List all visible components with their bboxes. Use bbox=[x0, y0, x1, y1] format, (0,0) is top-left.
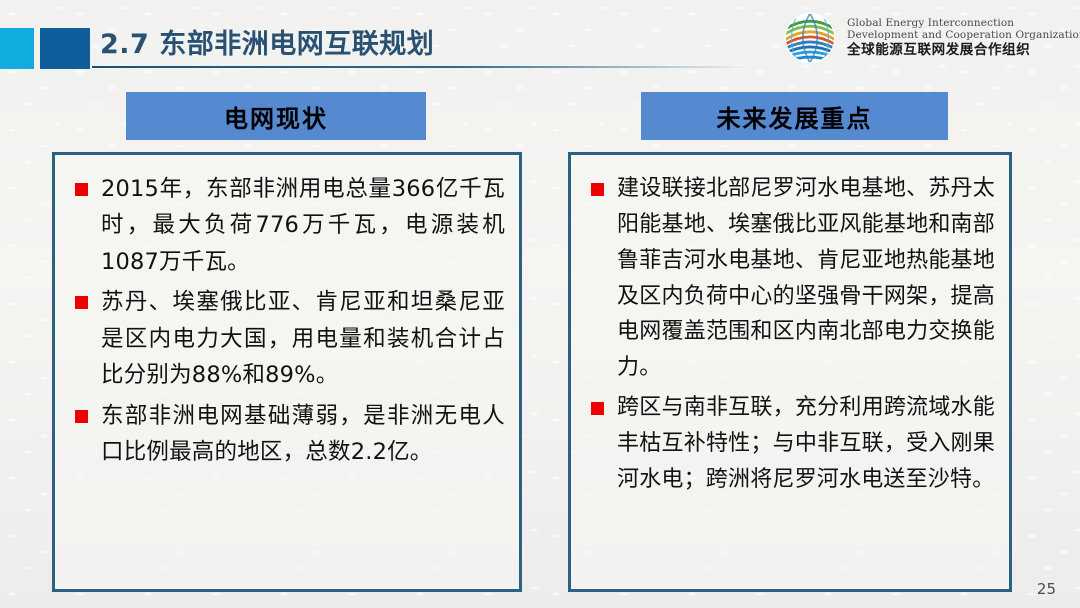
organization-logo: Global Energy Interconnection Developmen… bbox=[782, 10, 1080, 66]
panel-current-grid-status: 2015年，东部非洲用电总量366亿千瓦时，最大负荷776万千瓦，电源装机108… bbox=[52, 152, 522, 592]
page-title: 2.7 东部非洲电网互联规划 bbox=[100, 22, 434, 61]
list-item: 建设联接北部尼罗河水电基地、苏丹太阳能基地、埃塞俄比亚风能基地和南部鲁菲吉河水电… bbox=[587, 171, 995, 386]
header-divider-rule bbox=[92, 66, 752, 68]
slide-canvas: 2.7 东部非洲电网互联规划 bbox=[0, 0, 1080, 608]
header-accent-square-dark bbox=[40, 28, 90, 69]
logo-text-line-2: Development and Cooperation Organization bbox=[847, 30, 1080, 42]
header-accent-square-light bbox=[0, 28, 34, 69]
panel-future-development-focus: 建设联接北部尼罗河水电基地、苏丹太阳能基地、埃塞俄比亚风能基地和南部鲁菲吉河水电… bbox=[568, 152, 1012, 592]
bullet-list-left: 2015年，东部非洲用电总量366亿千瓦时，最大负荷776万千瓦，电源装机108… bbox=[55, 155, 519, 471]
list-item: 2015年，东部非洲用电总量366亿千瓦时，最大负荷776万千瓦，电源装机108… bbox=[71, 171, 505, 280]
list-item: 苏丹、埃塞俄比亚、肯尼亚和坦桑尼亚是区内电力大国，用电量和装机合计占比分别为88… bbox=[71, 284, 505, 393]
bullet-list-right: 建设联接北部尼罗河水电基地、苏丹太阳能基地、埃塞俄比亚风能基地和南部鲁菲吉河水电… bbox=[571, 155, 1009, 498]
column-heading-future-focus: 未来发展重点 bbox=[641, 92, 948, 140]
list-item: 东部非洲电网基础薄弱，是非洲无电人口比例最高的地区，总数2.2亿。 bbox=[71, 398, 505, 471]
logo-text-chinese: 全球能源互联网发展合作组织 bbox=[847, 43, 1080, 58]
list-item: 跨区与南非互联，充分利用跨流域水能丰枯互补特性；与中非互联，受入刚果河水电；跨洲… bbox=[587, 390, 995, 498]
page-number: 25 bbox=[1037, 580, 1056, 598]
column-heading-current-grid: 电网现状 bbox=[126, 92, 426, 140]
globe-icon bbox=[782, 10, 838, 66]
